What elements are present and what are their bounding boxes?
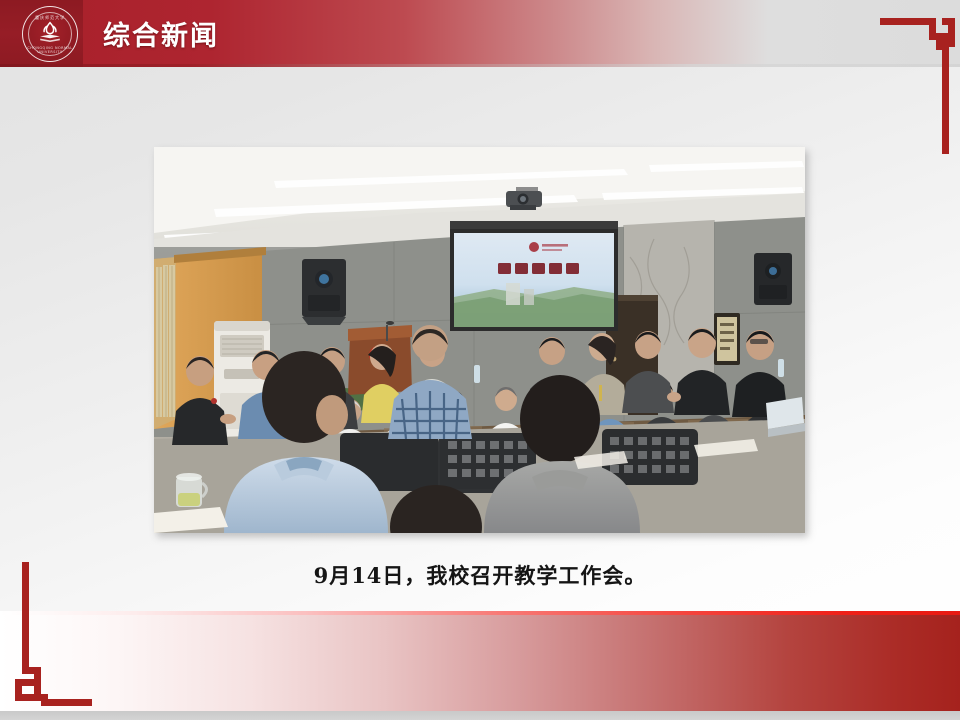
university-logo: 重庆师范大学 CHONGQING NORMAL UNIVERSITY bbox=[22, 6, 78, 62]
page-header: 重庆师范大学 CHONGQING NORMAL UNIVERSITY 综合新闻 bbox=[0, 0, 960, 67]
meeting-photograph bbox=[154, 147, 805, 533]
footer-strip bbox=[0, 711, 960, 720]
meeting-photo-frame bbox=[154, 147, 805, 533]
header-underline bbox=[0, 64, 960, 67]
bottom-decorative-band bbox=[0, 615, 960, 712]
logo-flame-book-icon bbox=[37, 20, 63, 44]
news-slide: 重庆师范大学 CHONGQING NORMAL UNIVERSITY 综合新闻 bbox=[0, 0, 960, 720]
page-title: 综合新闻 bbox=[103, 0, 219, 67]
logo-rim-text-bottom: CHONGQING NORMAL UNIVERSITY bbox=[23, 46, 77, 54]
photo-caption: 9月14日，我校召开教学工作会。 bbox=[0, 560, 960, 590]
